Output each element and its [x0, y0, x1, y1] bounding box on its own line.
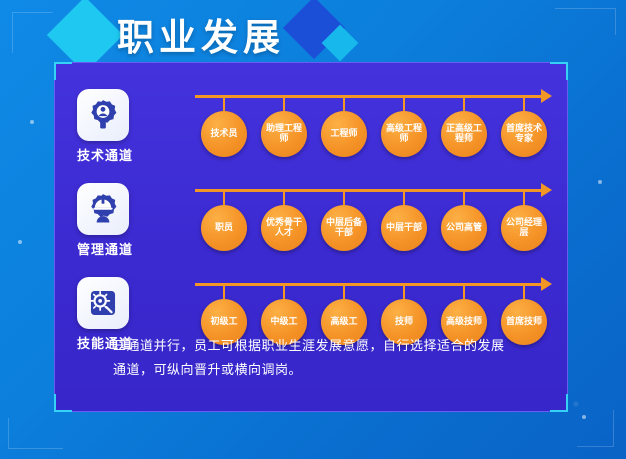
career-node-label: 职员 [203, 223, 245, 233]
career-node-label: 首席技术专家 [503, 124, 545, 144]
page-title: 职业发展 [86, 6, 316, 62]
career-node-label: 初级工 [203, 317, 245, 327]
career-node-label: 正高级工程师 [443, 124, 485, 144]
decoration-dot [598, 180, 602, 184]
career-node-label: 中级工 [263, 317, 305, 327]
career-node-label: 高级工程师 [383, 124, 425, 144]
panel-corner-bl [54, 394, 72, 412]
channel-row-management: 管理通道 职员 优秀骨干人才 中层后备干部 中层干部 公司高管 公司经理层 [55, 175, 567, 267]
panel-corner-br [550, 394, 568, 412]
infographic-canvas: 职业发展 技术通道 [0, 0, 626, 459]
timeline-rail-skill [195, 283, 543, 286]
diagram-panel: 技术通道 技术员 助理工程师 工程师 高级工程师 正高级工程师 首席技术专家 [54, 62, 568, 412]
career-node[interactable]: 中层后备干部 [321, 205, 367, 251]
timeline-rail-management [195, 189, 543, 192]
gear-tools-icon [77, 277, 129, 329]
panel-corner-tl [54, 62, 72, 80]
career-node-label: 优秀骨干人才 [263, 218, 305, 238]
career-node[interactable]: 助理工程师 [261, 111, 307, 157]
career-node-label: 工程师 [323, 129, 365, 139]
career-node[interactable]: 中层干部 [381, 205, 427, 251]
career-node-label: 技师 [383, 317, 425, 327]
timeline-arrow-management [541, 183, 552, 197]
career-node-label: 助理工程师 [263, 124, 305, 144]
career-node-label: 高级技师 [443, 317, 485, 327]
career-node[interactable]: 工程师 [321, 111, 367, 157]
timeline-rail-technical [195, 95, 543, 98]
career-node-label: 中层后备干部 [323, 218, 365, 238]
career-node[interactable]: 职员 [201, 205, 247, 251]
career-node[interactable]: 公司高管 [441, 205, 487, 251]
channel-row-technical: 技术通道 技术员 助理工程师 工程师 高级工程师 正高级工程师 首席技术专家 [55, 81, 567, 173]
decoration-dot [30, 120, 34, 124]
footer-note: 三通道并行，员工可根据职业生涯发展意愿，自行选择适合的发展 通道，可纵向晋升或横… [113, 335, 533, 383]
footer-line-2: 通道，可纵向晋升或横向调岗。 [113, 359, 533, 383]
decoration-corner-top-right [555, 8, 616, 35]
career-node[interactable]: 优秀骨干人才 [261, 205, 307, 251]
decoration-corner-bottom-left [8, 418, 63, 449]
channel-label-technical: 技术通道 [55, 145, 155, 164]
timeline-arrow-technical [541, 89, 552, 103]
career-node-label: 技术员 [203, 129, 245, 139]
career-node-label: 公司高管 [443, 223, 485, 233]
decoration-corner-top-left [12, 12, 53, 53]
career-node[interactable]: 正高级工程师 [441, 111, 487, 157]
career-node[interactable]: 公司经理层 [501, 205, 547, 251]
career-node[interactable]: 高级工程师 [381, 111, 427, 157]
career-node-label: 中层干部 [383, 223, 425, 233]
timeline-arrow-skill [541, 277, 552, 291]
panel-corner-tr [550, 62, 568, 80]
decoration-dot [18, 240, 22, 244]
career-node-label: 公司经理层 [503, 218, 545, 238]
helmet-worker-icon [77, 183, 129, 235]
decoration-dot [582, 415, 586, 419]
career-node[interactable]: 技术员 [201, 111, 247, 157]
gear-person-icon [77, 89, 129, 141]
footer-line-1: 三通道并行，员工可根据职业生涯发展意愿，自行选择适合的发展 [113, 335, 533, 359]
career-node[interactable]: 首席技术专家 [501, 111, 547, 157]
career-node-label: 首席技师 [503, 317, 545, 327]
channel-label-management: 管理通道 [55, 239, 155, 258]
career-node-label: 高级工 [323, 317, 365, 327]
